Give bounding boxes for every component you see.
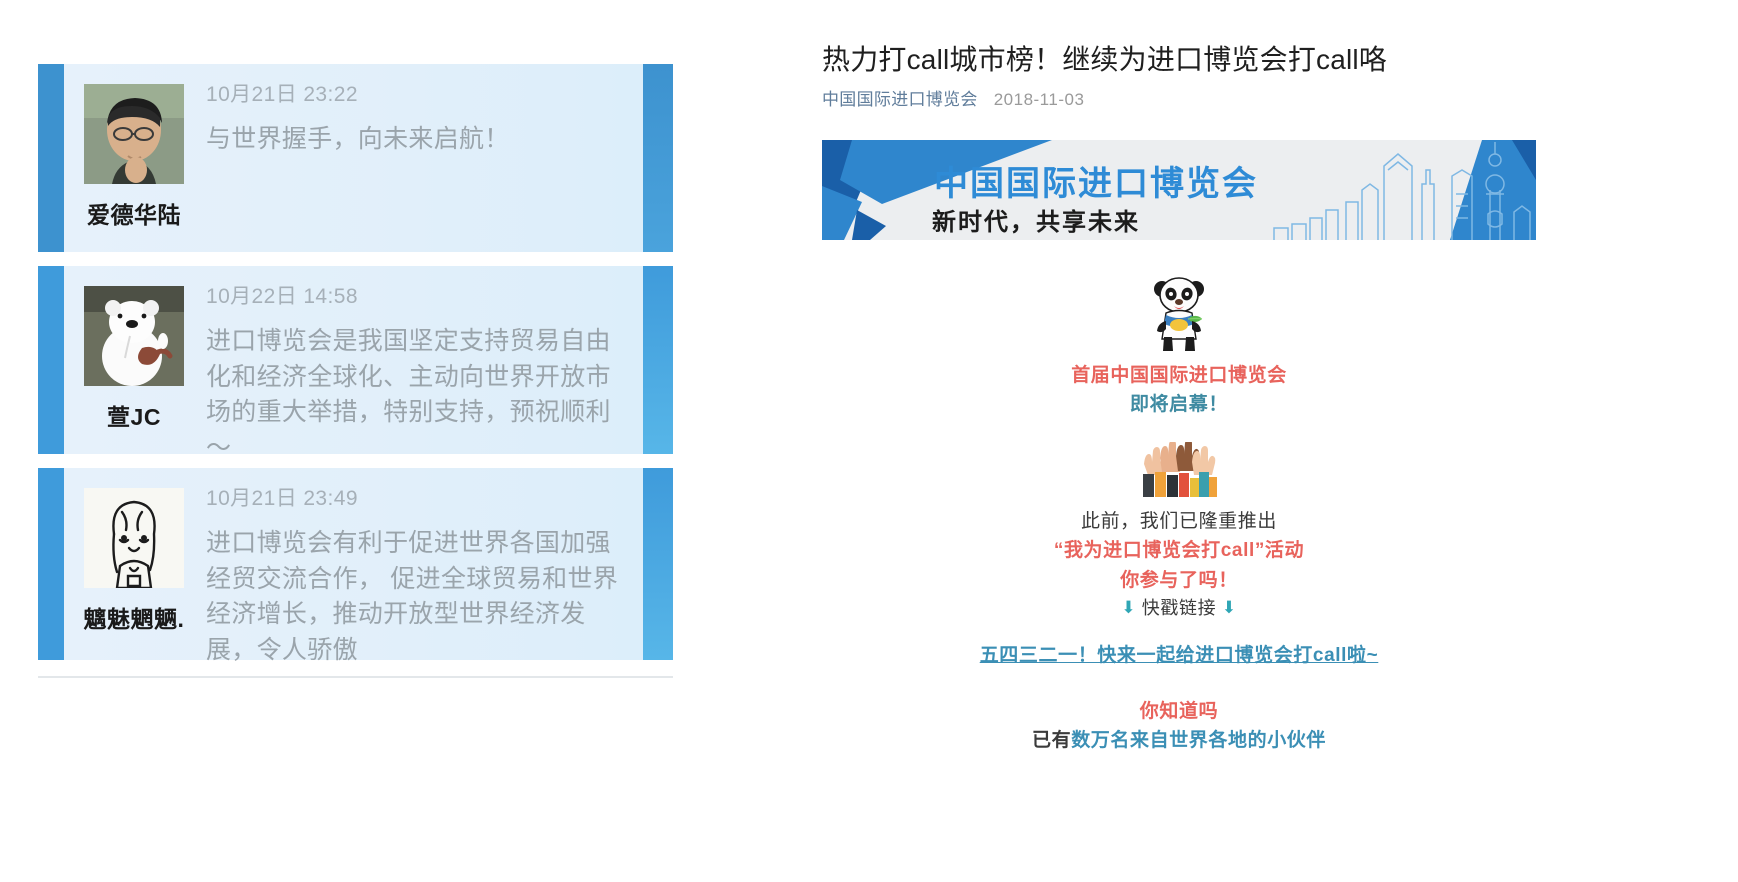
- card-left-rail: [38, 468, 64, 660]
- count-prefix: 已有: [1032, 730, 1071, 751]
- avatar-column: 魑魅魍魉.: [64, 482, 204, 646]
- comment-timestamp: 10月22日 14:58: [206, 280, 625, 310]
- card-body: 魑魅魍魉. 10月21日 23:49 进口博览会有利于促进世界各国加强经贸交流合…: [64, 468, 643, 660]
- campaign-name-line: “我为进口博览会打call”活动: [822, 536, 1536, 565]
- card-body: 爱德华陆 10月21日 23:22 与世界握手，向未来启航！: [64, 64, 643, 252]
- tap-link-prompt: ⬇ 快戳链接 ⬇: [822, 595, 1536, 623]
- comment-content: 与世界握手，向未来启航！: [206, 122, 625, 158]
- comment-timestamp: 10月21日 23:22: [206, 78, 625, 108]
- banner-title: 中国国际进口博览会: [934, 156, 1258, 205]
- expo-opening-soon-line: 即将启幕！: [822, 390, 1536, 419]
- comment-text-column: 10月21日 23:49 进口博览会有利于促进世界各国加强经贸交流合作， 促进全…: [204, 482, 643, 646]
- card-left-rail: [38, 64, 64, 252]
- down-arrow-icon: ⬇: [1222, 598, 1237, 617]
- expo-opening-line: 首届中国国际进口博览会: [822, 361, 1536, 390]
- campaign-link[interactable]: 五四三二一！快来一起给进口博览会打call啦~: [822, 641, 1536, 670]
- white-bear-avatar: [84, 286, 184, 386]
- account-name[interactable]: 中国国际进口博览会: [822, 90, 978, 109]
- comment-card[interactable]: 魑魅魍魉. 10月21日 23:49 进口博览会有利于促进世界各国加强经贸交流合…: [38, 468, 673, 660]
- card-right-rail: [643, 64, 673, 252]
- down-arrow-icon: ⬇: [1121, 598, 1136, 617]
- photo-man-avatar: [84, 84, 184, 184]
- comments-panel: 爱德华陆 10月21日 23:22 与世界握手，向未来启航！: [0, 0, 760, 882]
- avatar-column: 爱德华陆: [64, 78, 204, 238]
- count-highlight: 数万名来自世界各地的小伙伴: [1071, 730, 1326, 751]
- expo-banner: 中国国际进口博览会 新时代，共享未来: [822, 140, 1536, 240]
- did-you-know-line: 你知道吗: [822, 697, 1536, 726]
- comment-timestamp: 10月21日 23:49: [206, 482, 625, 512]
- card-body: 萱JC 10月22日 14:58 进口博览会是我国坚定支持贸易自由化和经济全球化…: [64, 266, 643, 454]
- comment-username: 魑魅魍魉.: [84, 600, 185, 634]
- campaign-question-line: 你参与了吗！: [822, 566, 1536, 595]
- comment-text-column: 10月22日 14:58 进口博览会是我国坚定支持贸易自由化和经济全球化、主动向…: [204, 280, 643, 440]
- comment-card[interactable]: 爱德华陆 10月21日 23:22 与世界握手，向未来启航！: [38, 64, 673, 252]
- article-body: 首届中国国际进口博览会 即将启幕！ 此前，我们已隆重推出 “我为进口博览会打ca…: [822, 255, 1536, 755]
- panda-mascot-icon: [1144, 275, 1214, 353]
- campaign-intro-line: 此前，我们已隆重推出: [822, 507, 1536, 536]
- participant-count-line: 已有数万名来自世界各地的小伙伴: [822, 726, 1536, 755]
- comment-text-column: 10月21日 23:22 与世界握手，向未来启航！: [204, 78, 643, 238]
- raised-hands-icon: [1140, 442, 1218, 497]
- publish-date: 2018-11-03: [994, 90, 1085, 109]
- tap-link-text: 快戳链接: [1142, 598, 1216, 618]
- sketch-girl-avatar: [84, 488, 184, 588]
- comment-content: 进口博览会有利于促进世界各国加强经贸交流合作， 促进全球贸易和世界经济增长，推动…: [206, 526, 625, 668]
- card-right-rail: [643, 266, 673, 454]
- article-panel: 热力打call城市榜！继续为进口博览会打call咯 中国国际进口博览会2018-…: [760, 0, 1738, 882]
- page-title: 热力打call城市榜！继续为进口博览会打call咯: [822, 38, 1387, 78]
- comment-card[interactable]: 萱JC 10月22日 14:58 进口博览会是我国坚定支持贸易自由化和经济全球化…: [38, 266, 673, 454]
- banner-subtitle: 新时代，共享未来: [932, 202, 1140, 237]
- card-right-rail: [643, 468, 673, 660]
- list-divider: [38, 676, 673, 678]
- avatar-column: 萱JC: [64, 280, 204, 440]
- comment-username: 爱德华陆: [87, 196, 181, 230]
- comment-content: 进口博览会是我国坚定支持贸易自由化和经济全球化、主动向世界开放市场的重大举措，特…: [206, 324, 625, 466]
- article-meta: 中国国际进口博览会2018-11-03: [822, 85, 1084, 110]
- comment-username: 萱JC: [107, 398, 161, 432]
- card-left-rail: [38, 266, 64, 454]
